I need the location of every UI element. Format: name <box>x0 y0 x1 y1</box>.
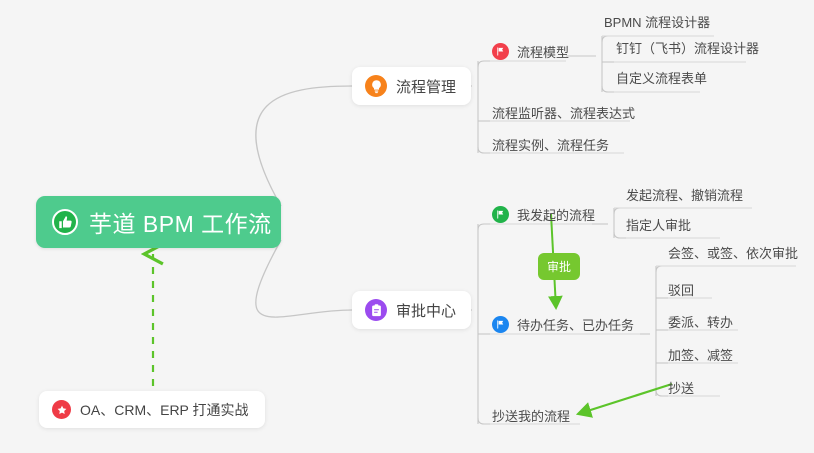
root-node[interactable]: 芋道 BPM 工作流 <box>36 196 281 248</box>
mindmap-canvas: 芋道 BPM 工作流 流程管理 流程模型 BPMN 流程设计器 钉钉（飞书）流程… <box>0 0 814 453</box>
annotation-tag-label: 审批 <box>547 260 571 274</box>
thumbs-up-icon <box>52 209 78 235</box>
node-label: 流程实例、流程任务 <box>492 138 609 153</box>
flag-icon-blue <box>492 316 509 333</box>
root-label: 芋道 BPM 工作流 <box>89 205 272 239</box>
node-label: 流程监听器、流程表达式 <box>492 106 635 121</box>
leaf-bpmn-designer[interactable]: BPMN 流程设计器 <box>604 12 710 36</box>
node-label-todo-done-tasks: 待办任务、已办任务 <box>517 315 634 334</box>
leaf-reject[interactable]: 驳回 <box>668 280 694 304</box>
node-process-listener[interactable]: 流程监听器、流程表达式 <box>492 103 635 127</box>
leaf-countersign[interactable]: 会签、或签、依次审批 <box>668 243 798 267</box>
note-card-label: OA、CRM、ERP 打通实战 <box>80 400 249 420</box>
star-icon <box>52 400 71 419</box>
leaf-label: 委派、转办 <box>668 315 733 330</box>
node-process-model[interactable]: 流程模型 <box>492 42 569 66</box>
annotation-tag-approval: 审批 <box>538 253 580 280</box>
flag-icon-red <box>492 43 509 60</box>
leaf-start-cancel-process[interactable]: 发起流程、撤销流程 <box>626 185 743 209</box>
lightbulb-icon <box>365 75 387 97</box>
node-cc-my-process[interactable]: 抄送我的流程 <box>492 406 570 430</box>
leaf-label: 钉钉（飞书）流程设计器 <box>616 41 759 56</box>
leaf-label: 发起流程、撤销流程 <box>626 188 743 203</box>
leaf-add-remove-sign[interactable]: 加签、减签 <box>668 345 733 369</box>
leaf-cc[interactable]: 抄送 <box>668 378 694 402</box>
node-my-started-process[interactable]: 我发起的流程 <box>492 205 595 229</box>
node-process-instance[interactable]: 流程实例、流程任务 <box>492 135 609 159</box>
leaf-label: BPMN 流程设计器 <box>604 15 710 30</box>
leaf-delegate-transfer[interactable]: 委派、转办 <box>668 312 733 336</box>
node-label-my-started-process: 我发起的流程 <box>517 205 595 224</box>
leaf-label: 指定人审批 <box>626 218 691 233</box>
node-todo-done-tasks[interactable]: 待办任务、已办任务 <box>492 315 634 339</box>
branch-node-approval-center[interactable]: 审批中心 <box>352 291 471 329</box>
leaf-label: 抄送 <box>668 381 694 396</box>
cc-flow-arrow <box>578 384 672 414</box>
node-label: 抄送我的流程 <box>492 409 570 424</box>
clipboard-icon <box>365 299 387 321</box>
leaf-label: 会签、或签、依次审批 <box>668 246 798 261</box>
leaf-assignee-approval[interactable]: 指定人审批 <box>626 215 691 239</box>
branch-node-process-management[interactable]: 流程管理 <box>352 67 471 105</box>
node-label-process-model: 流程模型 <box>517 42 569 61</box>
flag-icon-green <box>492 206 509 223</box>
leaf-custom-process-form[interactable]: 自定义流程表单 <box>616 68 707 92</box>
leaf-label: 加签、减签 <box>668 348 733 363</box>
note-card-integration-practice[interactable]: OA、CRM、ERP 打通实战 <box>39 391 265 428</box>
branch-label-process-management: 流程管理 <box>396 76 456 97</box>
leaf-label: 自定义流程表单 <box>616 71 707 86</box>
leaf-dingtalk-feishu-designer[interactable]: 钉钉（飞书）流程设计器 <box>616 38 759 62</box>
branch-label-approval-center: 审批中心 <box>396 300 456 321</box>
leaf-label: 驳回 <box>668 283 694 298</box>
